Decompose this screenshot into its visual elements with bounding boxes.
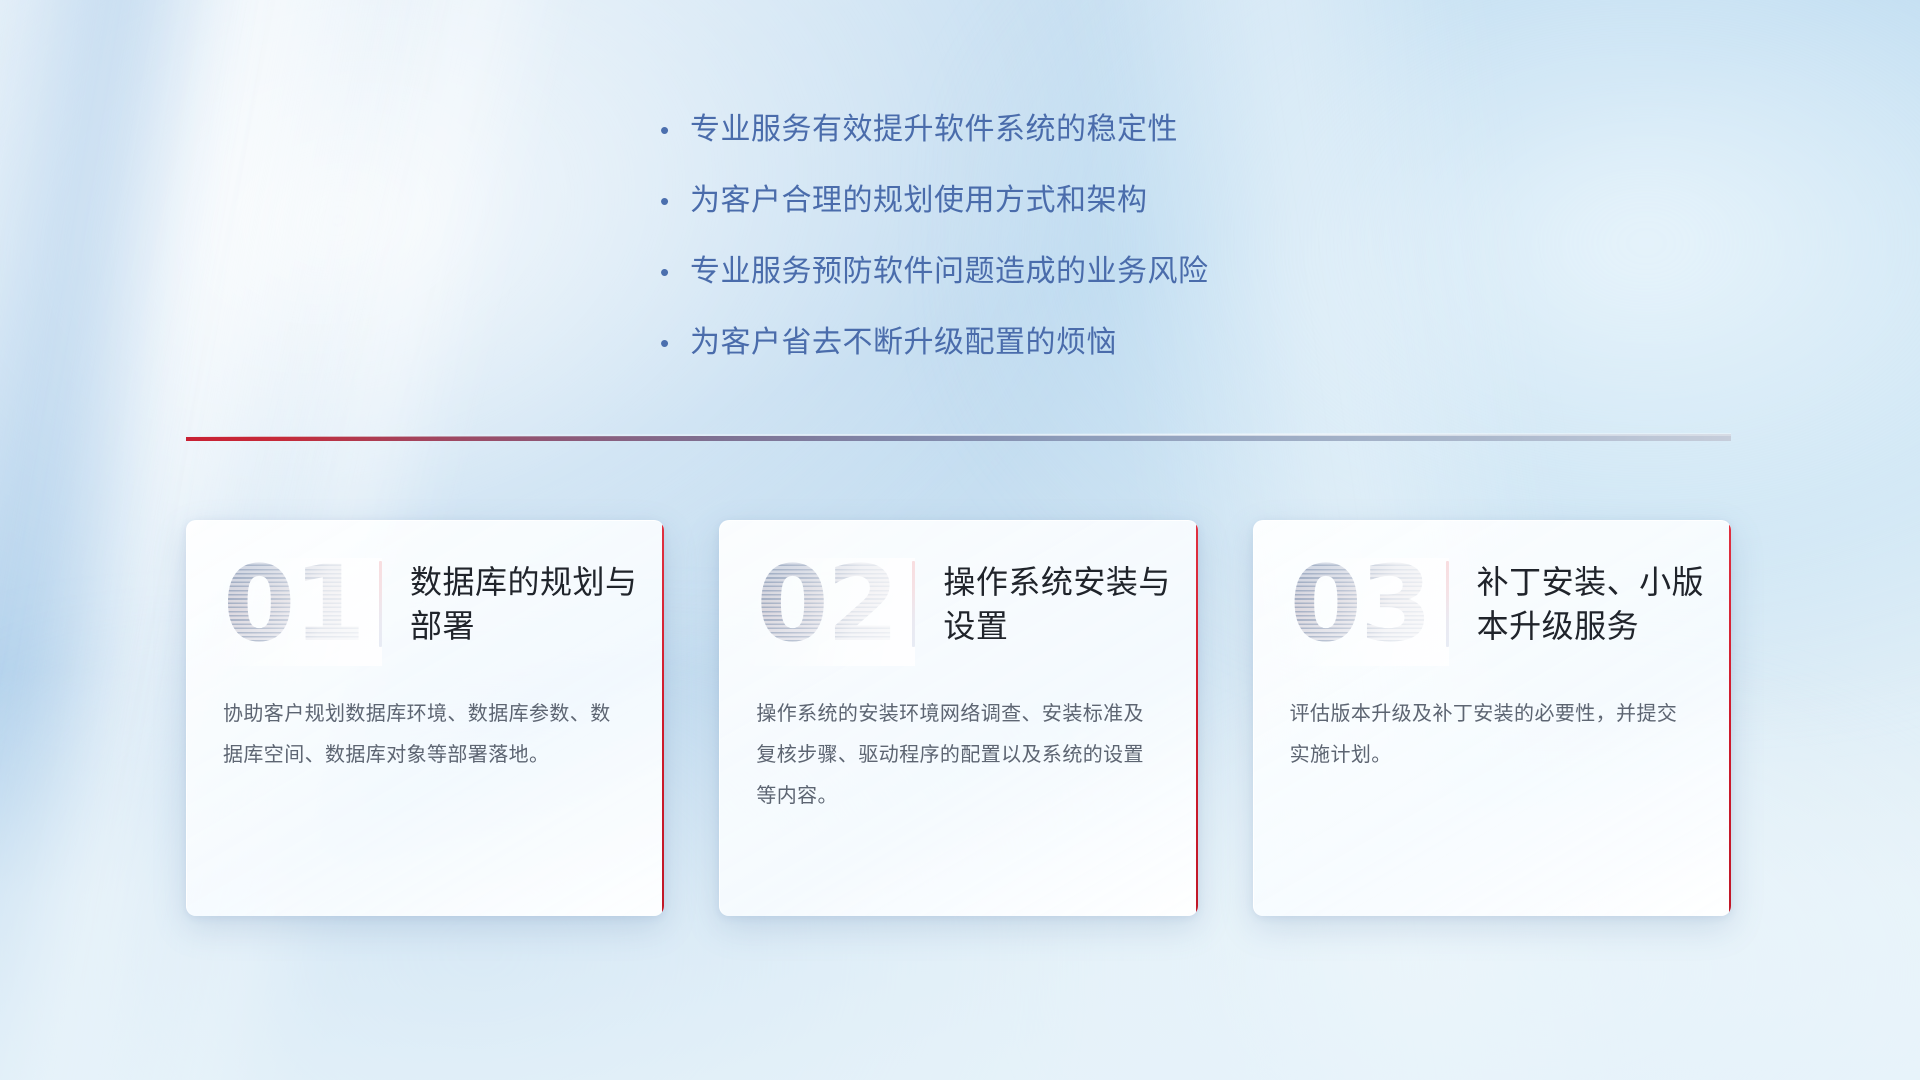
service-card[interactable]: 02 操作系统安装与设置 操作系统的安装环境网络调查、安装标准及复核步骤、驱动程… <box>719 520 1197 916</box>
card-title: 操作系统安装与设置 <box>943 560 1183 648</box>
service-card-list: 01 数据库的规划与部署 协助客户规划数据库环境、数据库参数、数据库空间、数据库… <box>186 520 1731 916</box>
bullet-text: 专业服务预防软件问题造成的业务风险 <box>690 252 1209 292</box>
card-title-divider <box>379 561 382 647</box>
card-number: 01 <box>223 552 373 656</box>
card-description: 协助客户规划数据库环境、数据库参数、数据库空间、数据库对象等部署落地。 <box>187 686 664 776</box>
card-description: 评估版本升级及补丁安装的必要性，并提交实施计划。 <box>1254 686 1731 776</box>
bullet-dot-icon: • <box>660 252 690 292</box>
bullet-item: • 为客户合理的规划使用方式和架构 <box>660 181 1420 221</box>
card-header: 01 数据库的规划与部署 <box>187 521 664 686</box>
bullet-dot-icon: • <box>660 110 690 150</box>
bullet-text: 为客户合理的规划使用方式和架构 <box>690 181 1148 221</box>
bullet-text: 专业服务有效提升软件系统的稳定性 <box>690 110 1178 150</box>
bullet-dot-icon: • <box>660 181 690 221</box>
card-title: 数据库的规划与部署 <box>410 560 650 648</box>
bullet-dot-icon: • <box>660 323 690 363</box>
benefits-bullet-list: • 专业服务有效提升软件系统的稳定性 • 为客户合理的规划使用方式和架构 • 专… <box>660 110 1420 394</box>
card-header: 02 操作系统安装与设置 <box>720 521 1197 686</box>
service-card[interactable]: 03 补丁安装、小版本升级服务 评估版本升级及补丁安装的必要性，并提交实施计划。 <box>1253 520 1731 916</box>
card-description: 操作系统的安装环境网络调查、安装标准及复核步骤、驱动程序的配置以及系统的设置等内… <box>720 686 1197 817</box>
section-divider <box>186 430 1731 446</box>
card-title-divider <box>1446 561 1449 647</box>
card-title-divider <box>912 561 915 647</box>
card-header: 03 补丁安装、小版本升级服务 <box>1254 521 1731 686</box>
card-number: 03 <box>1290 552 1440 656</box>
bullet-item: • 专业服务有效提升软件系统的稳定性 <box>660 110 1420 150</box>
card-title: 补丁安装、小版本升级服务 <box>1477 560 1717 648</box>
bullet-text: 为客户省去不断升级配置的烦恼 <box>690 323 1117 363</box>
bullet-item: • 专业服务预防软件问题造成的业务风险 <box>660 252 1420 292</box>
divider-highlight <box>186 433 1731 436</box>
card-number: 02 <box>756 552 906 656</box>
bullet-item: • 为客户省去不断升级配置的烦恼 <box>660 323 1420 363</box>
service-card[interactable]: 01 数据库的规划与部署 协助客户规划数据库环境、数据库参数、数据库空间、数据库… <box>186 520 664 916</box>
